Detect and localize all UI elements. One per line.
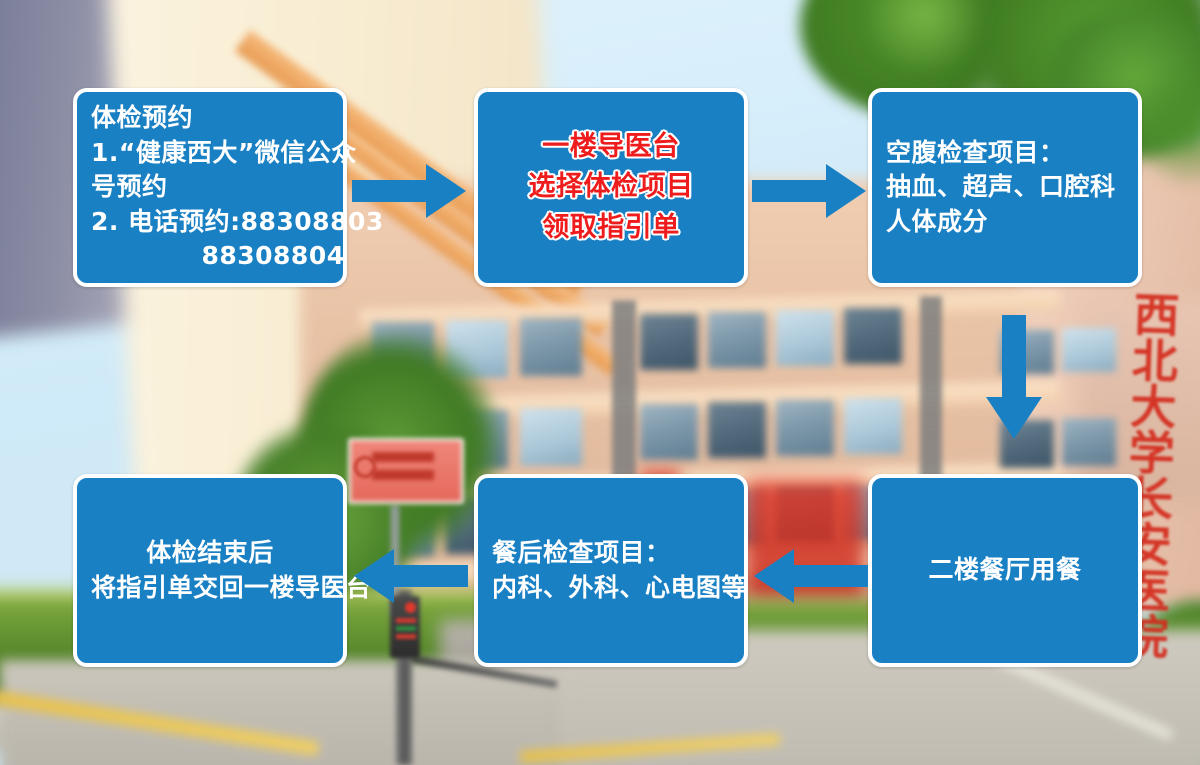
flow-node-return-form-text: 体检结束后 将指引单交回一楼导医台 (91, 536, 329, 605)
arrow-left-icon (352, 545, 468, 607)
arrow-right-icon (752, 160, 868, 222)
flow-node-appointment-text: 体检预约 1.“健康西大”微信公众 号预约 2. 电话预约:88308803 8… (91, 101, 329, 274)
flow-node-appointment[interactable]: 体检预约 1.“健康西大”微信公众 号预约 2. 电话预约:88308803 8… (73, 88, 347, 287)
flow-node-guide-desk[interactable]: 一楼导医台 选择体检项目 领取指引单 (474, 88, 748, 287)
flow-node-guide-desk-text: 一楼导医台 选择体检项目 领取指引单 (492, 127, 730, 249)
arrow-right-icon (352, 160, 468, 222)
flow-diagram: 体检预约 1.“健康西大”微信公众 号预约 2. 电话预约:88308803 8… (0, 0, 1200, 765)
flow-node-return-form[interactable]: 体检结束后 将指引单交回一楼导医台 (73, 474, 347, 667)
flow-node-postmeal-items-text: 餐后检查项目： 内科、外科、心电图等 (492, 536, 730, 605)
flow-node-fasting-items-text: 空腹检查项目： 抽血、超声、口腔科 人体成分 (886, 136, 1124, 240)
arrow-left-icon (752, 545, 868, 607)
flow-node-dining[interactable]: 二楼餐厅用餐 (868, 474, 1142, 667)
flow-node-dining-text: 二楼餐厅用餐 (886, 553, 1124, 588)
flow-node-postmeal-items[interactable]: 餐后检查项目： 内科、外科、心电图等 (474, 474, 748, 667)
flowchart-poster: 西北大学长安医院 体检预约 1.“健康西大”微信公众 号预约 2. 电话预约:8… (0, 0, 1200, 765)
flow-node-fasting-items[interactable]: 空腹检查项目： 抽血、超声、口腔科 人体成分 (868, 88, 1142, 287)
arrow-down-icon (983, 315, 1045, 441)
